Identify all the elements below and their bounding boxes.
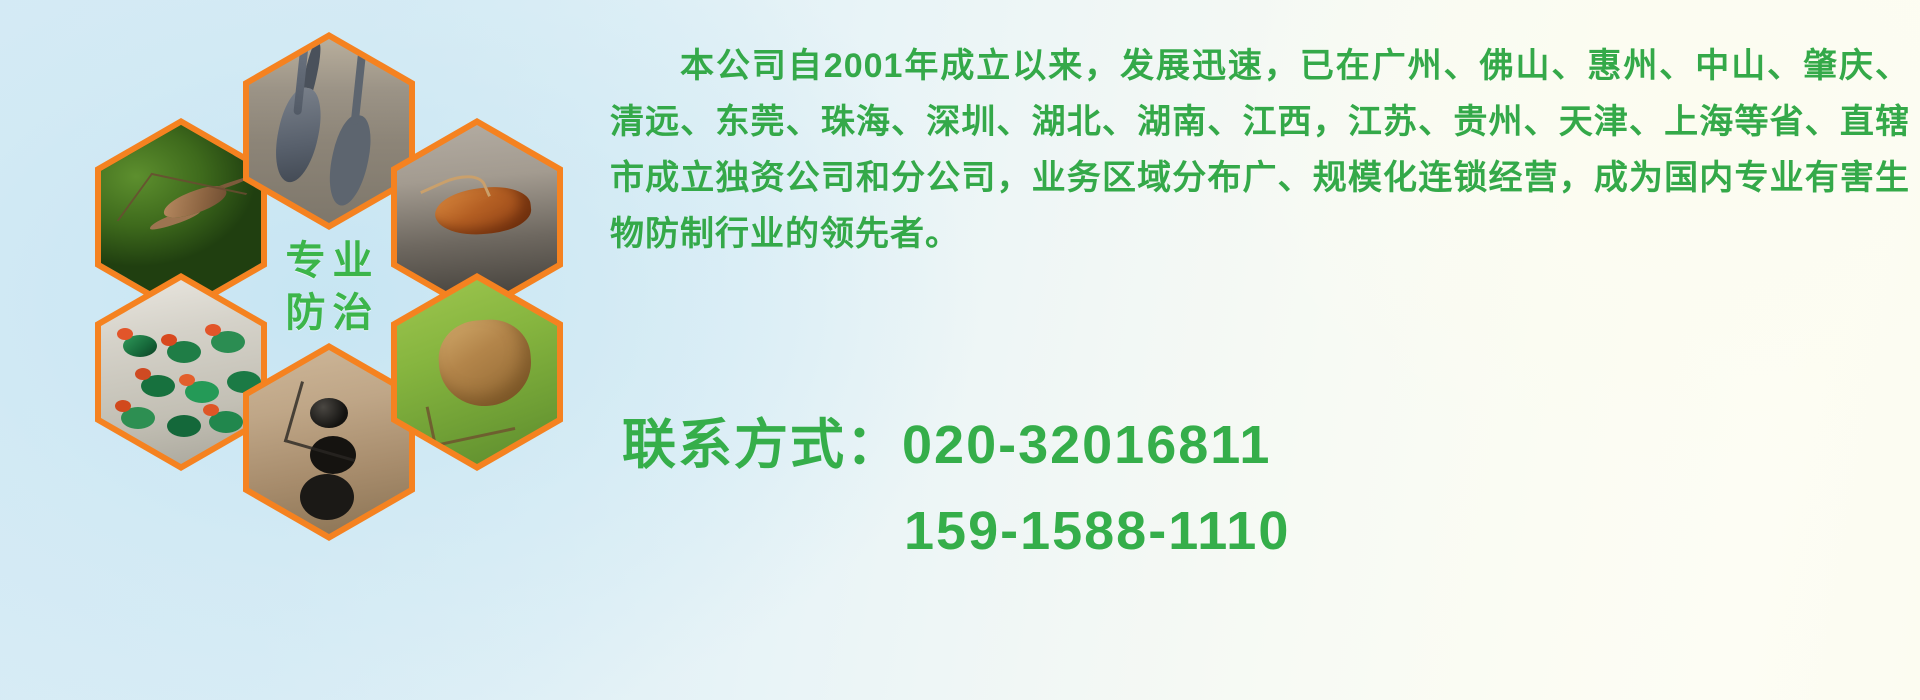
hexagon-photo-cluster: 专业 防治 xyxy=(95,10,575,555)
pest-control-banner: 专业 防治 本公司自2001年成立以来，发展迅速，已在广州、佛山、惠州、中山、肇… xyxy=(0,0,1920,700)
stink-bug-photo xyxy=(397,280,557,464)
slogan-line-1: 专业 xyxy=(279,241,380,281)
fly-photo xyxy=(101,280,261,464)
hex-inner-stink-bug xyxy=(397,280,557,464)
hex-inner-fly xyxy=(101,280,261,464)
contact-line-secondary[interactable]: 159-1588-1110 xyxy=(622,488,1912,574)
company-intro-paragraph: 本公司自2001年成立以来，发展迅速，已在广州、佛山、惠州、中山、肇庆、清远、东… xyxy=(610,38,1910,262)
contact-block: 联系方式：020-32016811 159-1588-1110 xyxy=(622,402,1912,574)
contact-line-primary[interactable]: 联系方式：020-32016811 xyxy=(622,402,1912,488)
slogan-text: 专业 防治 xyxy=(243,188,415,386)
hex-inner-slogan: 专业 防治 xyxy=(243,188,415,386)
hex-tile-fly xyxy=(95,273,267,471)
slogan-line-2: 防治 xyxy=(279,293,380,333)
content-column: 本公司自2001年成立以来，发展迅速，已在广州、佛山、惠州、中山、肇庆、清远、东… xyxy=(610,0,1920,700)
hex-tile-stink-bug xyxy=(391,273,563,471)
hex-tile-slogan: 专业 防治 xyxy=(243,188,415,386)
